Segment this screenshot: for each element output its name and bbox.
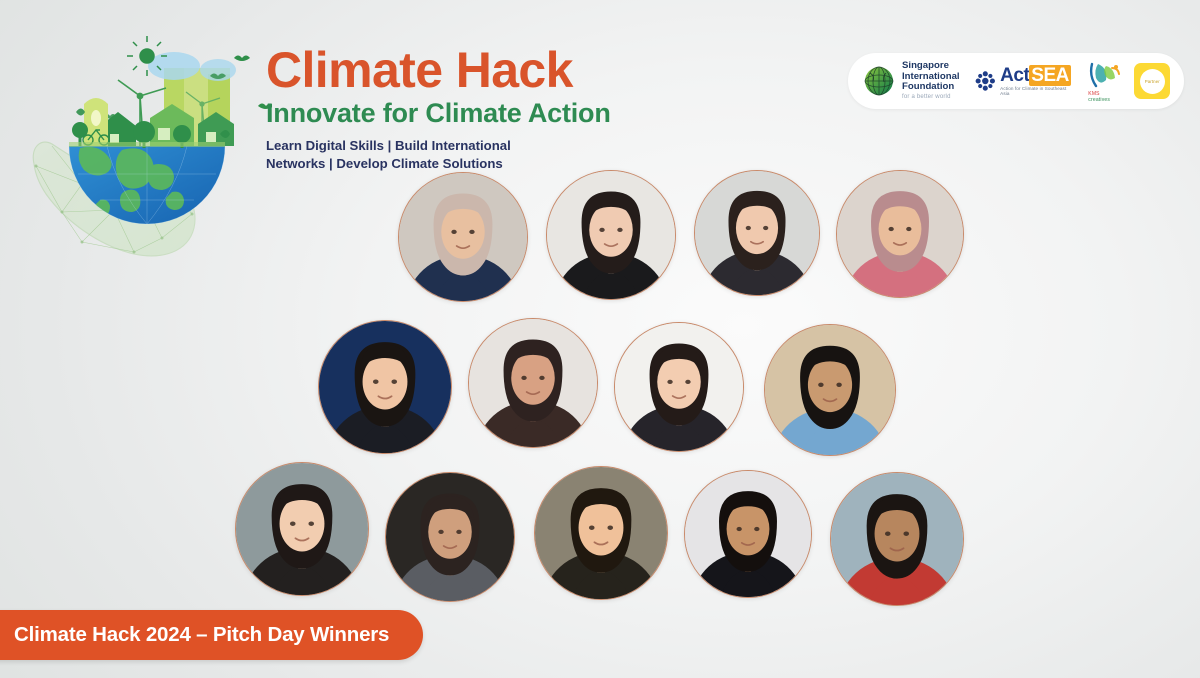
portrait-woman-long-dark-hair xyxy=(547,171,675,299)
portrait-man-black-suit-white-bg xyxy=(685,471,811,597)
portrait-woman-wavy-dark-hair xyxy=(469,319,597,447)
banner-title: Climate Hack 2024 – Pitch Day Winners xyxy=(14,623,389,647)
bottom-banner: Climate Hack 2024 – Pitch Day Winners xyxy=(0,610,423,660)
portrait-man-suit-dark-tie xyxy=(535,467,667,599)
portrait-woman-white-shirt-blazer xyxy=(615,323,743,451)
winner-photo-winner-11 xyxy=(534,466,668,600)
winners-photo-grid xyxy=(0,0,1200,678)
portrait-man-light-blue-shirt xyxy=(765,325,895,455)
winner-photo-winner-1 xyxy=(398,172,528,302)
winner-photo-winner-4 xyxy=(836,170,964,298)
winner-photo-winner-12 xyxy=(684,470,812,598)
slide-canvas: Climate Hack Innovate for Climate Action… xyxy=(0,0,1200,678)
winner-photo-winner-3 xyxy=(694,170,820,296)
winner-photo-winner-5 xyxy=(318,320,452,454)
portrait-man-red-tie-blue-bg xyxy=(319,321,451,453)
portrait-man-red-scarf-outdoors xyxy=(831,473,963,605)
winner-photo-winner-7 xyxy=(614,322,744,452)
winner-photo-winner-6 xyxy=(468,318,598,448)
winner-photo-winner-13 xyxy=(830,472,964,606)
winner-photo-winner-8 xyxy=(764,324,896,456)
portrait-woman-pink-headscarf xyxy=(837,171,963,297)
winner-photo-winner-2 xyxy=(546,170,676,300)
portrait-woman-hijab-blazer xyxy=(399,173,527,301)
winner-photo-winner-10 xyxy=(385,472,515,602)
portrait-woman-smiling-dark-top xyxy=(695,171,819,295)
portrait-woman-plaid-shirt xyxy=(386,473,514,601)
winner-photo-winner-9 xyxy=(235,462,369,596)
portrait-woman-office-background xyxy=(236,463,368,595)
